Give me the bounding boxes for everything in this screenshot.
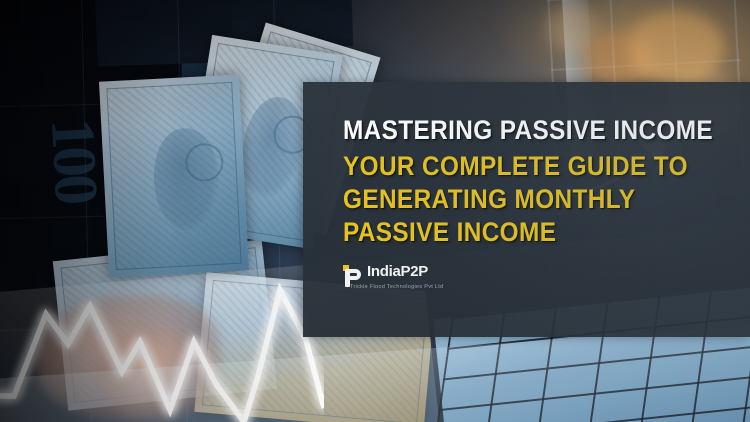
- logo-p-bowl: [348, 269, 361, 280]
- brand-tagline: Trickle Flood Technologies Pvt Ltd: [350, 283, 443, 292]
- headline-block: MASTERING PASSIVE INCOME YOUR COMPLETE G…: [343, 114, 740, 249]
- brand-text: IndiaP2P Trickle Flood Technologies Pvt …: [367, 264, 443, 292]
- banknote-front: 100: [99, 74, 249, 277]
- headline-line-3: GENERATING MONTHLY: [343, 183, 708, 216]
- headline-line-2: YOUR COMPLETE GUIDE TO: [343, 150, 708, 183]
- brand-name: IndiaP2P: [367, 264, 443, 280]
- headline-line-1: MASTERING PASSIVE INCOME: [343, 114, 708, 147]
- banknote-denomination: 100: [35, 117, 110, 205]
- brand-logo[interactable]: IndiaP2P Trickle Flood Technologies Pvt …: [343, 264, 443, 292]
- headline-line-4: PASSIVE INCOME: [343, 216, 708, 249]
- headline-panel: MASTERING PASSIVE INCOME YOUR COMPLETE G…: [303, 82, 750, 337]
- line-chart-graphic: [0, 280, 324, 422]
- promo-banner: 100: [0, 0, 750, 422]
